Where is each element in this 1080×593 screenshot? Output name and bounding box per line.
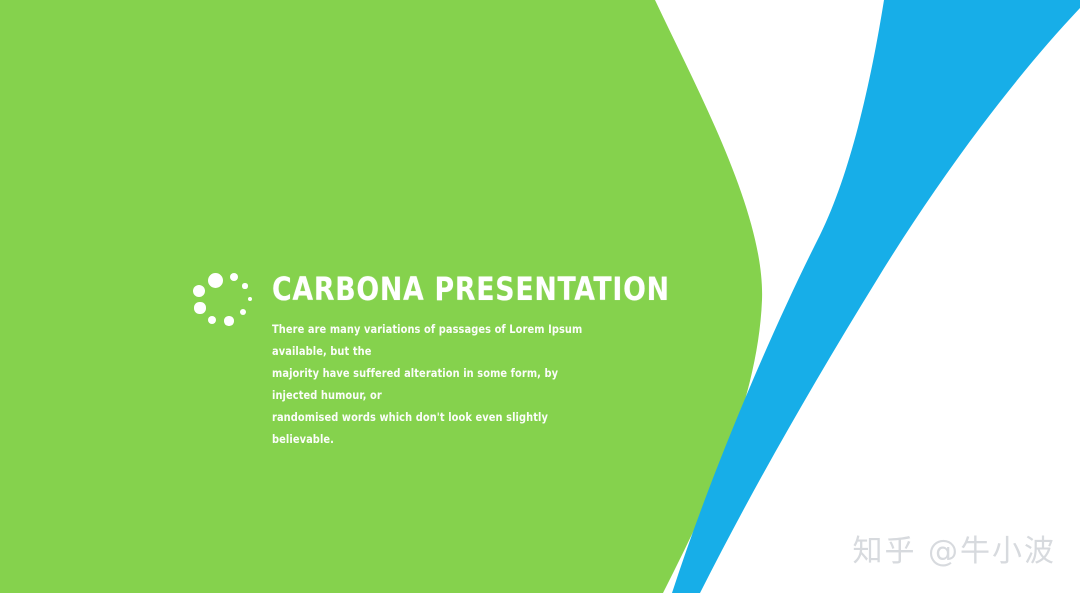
page-title: CARBONA PRESENTATION — [272, 272, 607, 306]
dot-ring-dot — [242, 283, 247, 288]
dot-ring-dot — [208, 316, 216, 324]
slide-description: There are many variations of passages of… — [272, 318, 606, 450]
dot-ring-dot — [208, 273, 223, 288]
dot-ring-dot — [230, 273, 238, 281]
title-text-block: CARBONA PRESENTATION There are many vari… — [272, 272, 632, 450]
dot-ring-dot — [193, 285, 206, 298]
presentation-slide: CARBONA PRESENTATION There are many vari… — [0, 0, 1080, 593]
dot-ring-dot — [194, 302, 205, 313]
dot-ring-dot — [240, 309, 246, 315]
slide-content: CARBONA PRESENTATION There are many vari… — [0, 0, 1080, 593]
dot-ring-dot — [248, 297, 252, 301]
slide-description-line: randomised words which don't look even s… — [272, 410, 548, 446]
slide-description-line: There are many variations of passages of… — [272, 322, 582, 358]
watermark-label: 知乎 @牛小波 — [852, 535, 1056, 569]
dot-ring-icon — [193, 272, 255, 330]
slide-description-line: majority have suffered alteration in som… — [272, 366, 558, 402]
dot-ring-dot — [224, 316, 233, 325]
